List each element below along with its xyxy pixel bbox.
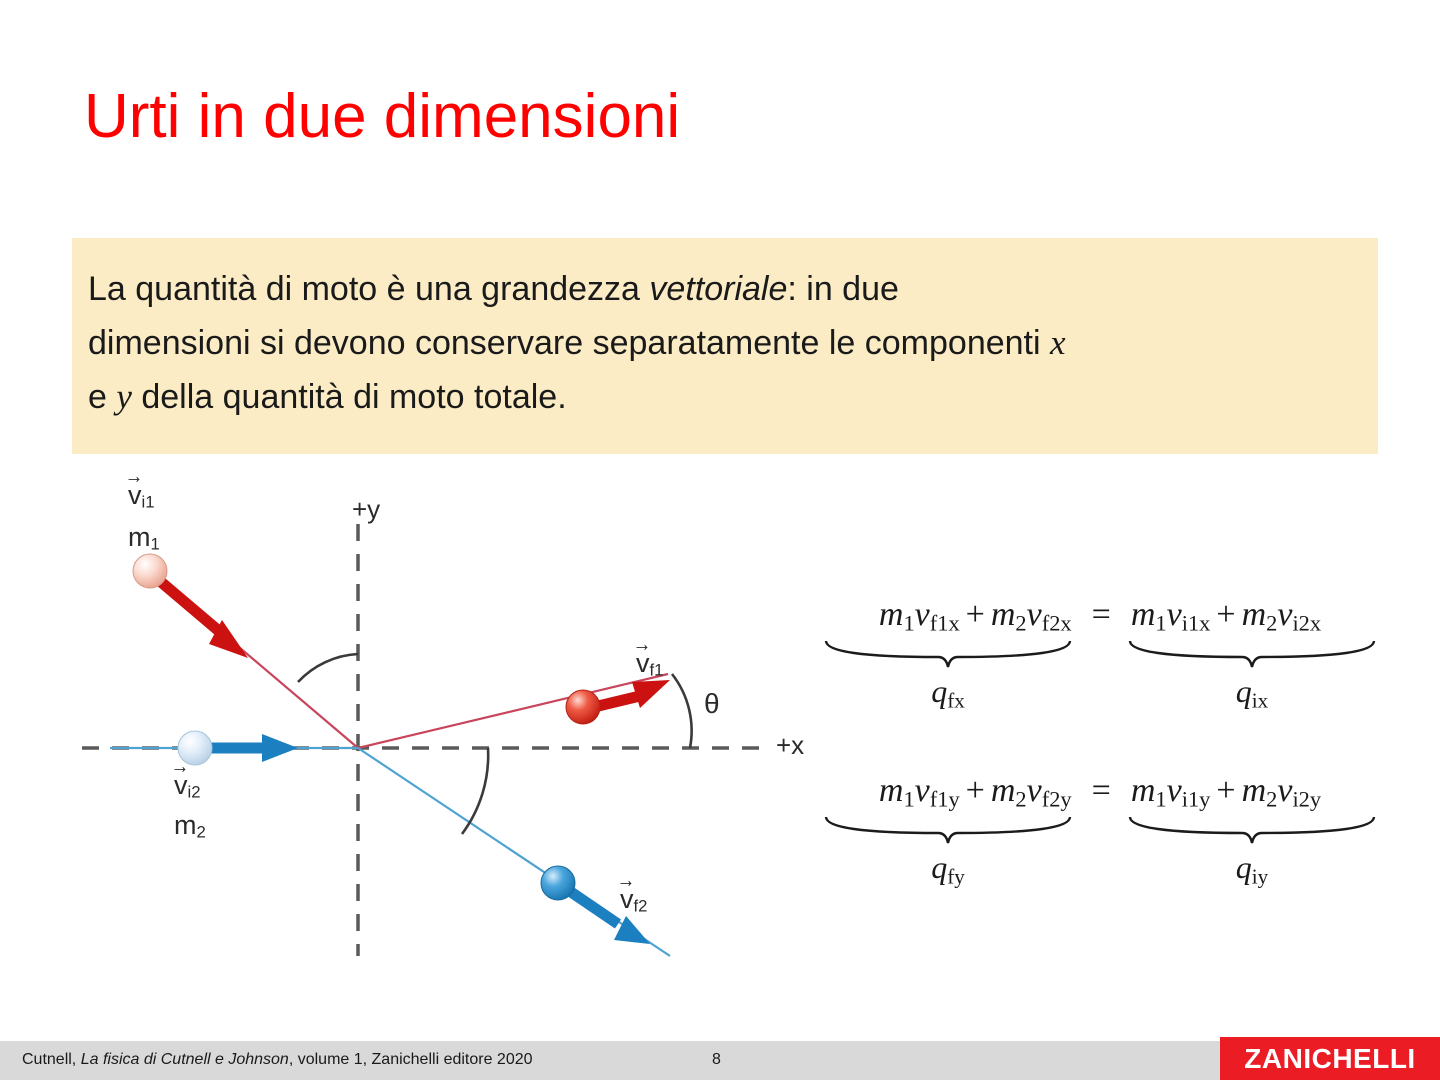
eq-y-right-v1: v (1167, 772, 1182, 809)
equation-y-row: m1vf1y+m2vf2y = m1vi1y+m2vi2y (820, 772, 1380, 813)
equation-x-left-side: m1vf1x+m2vf2x (879, 596, 1072, 637)
vector-vi1-shaft (154, 576, 220, 632)
eq-y-qiy-symbol: q (1236, 849, 1252, 885)
eq-x-left-m1-sub: 1 (903, 611, 914, 636)
eq-x-right-m1: m (1131, 596, 1156, 633)
eq-y-qfy-symbol: q (931, 849, 947, 885)
label-vi1: vi1 (128, 480, 155, 513)
eq-y-left-v1-sub: f1y (930, 787, 960, 812)
label-m1: m1 (128, 522, 160, 555)
eq-x-right-v2-sub: i2x (1292, 611, 1321, 636)
equation-y-right-side: m1vi1y+m2vi2y (1131, 772, 1321, 813)
eq-x-left-m2-sub: 2 (1015, 611, 1026, 636)
eq-x-qfx-symbol: q (931, 673, 947, 709)
eq-y-left-m2-sub: 2 (1015, 787, 1026, 812)
callout-line3-part1: e (88, 378, 116, 416)
eq-y-left-brace-label: qfy (908, 849, 988, 889)
label-m2-sub: 2 (197, 823, 206, 842)
eq-x-right-v2: v (1277, 596, 1292, 633)
conservation-equations: m1vf1x+m2vf2x = m1vi1x+m2vi2x qfx qix m1… (820, 596, 1380, 926)
eq-x-qix-symbol: q (1236, 673, 1252, 709)
eq-x-equals: = (1072, 596, 1131, 634)
eq-x-left-v2-sub: f2x (1042, 611, 1072, 636)
eq-y-right-v2: v (1277, 772, 1292, 809)
trajectory-line-vf1 (358, 674, 668, 748)
eq-x-left-operator: + (960, 596, 991, 633)
equation-x-braces (820, 637, 1380, 671)
brace-x-left (826, 641, 1070, 667)
collision-diagram: vi1 m1 vi2 m2 vf1 vf2 +y +x θ (70, 466, 830, 986)
angle-label-theta: θ (704, 688, 720, 720)
label-vi2: vi2 (174, 770, 201, 803)
ball-m1 (133, 554, 167, 588)
eq-x-right-brace-label: qix (1212, 673, 1292, 713)
callout-line3-part2: della quantità di moto totale. (132, 378, 567, 416)
equation-x-right-side: m1vi1x+m2vi2x (1131, 596, 1321, 637)
eq-x-left-m2: m (991, 596, 1016, 633)
vector-vf1-arrowhead (632, 680, 670, 708)
equation-x-components: m1vf1x+m2vf2x = m1vi1x+m2vi2x qfx qix (820, 596, 1380, 715)
angle-arc-upper (298, 654, 358, 682)
label-m2: m2 (174, 810, 206, 843)
eq-y-right-v2-sub: i2y (1292, 787, 1321, 812)
label-vi2-symbol: v (174, 770, 188, 801)
eq-y-left-m1: m (879, 772, 904, 809)
eq-x-left-v1-sub: f1x (930, 611, 960, 636)
label-vf2-sub: f2 (634, 897, 648, 916)
equation-y-components: m1vf1y+m2vf2y = m1vi1y+m2vi2y qfy qiy (820, 772, 1380, 891)
eq-x-left-v1: v (915, 596, 930, 633)
eq-x-right-m2-sub: 2 (1266, 611, 1277, 636)
eq-y-right-m2-sub: 2 (1266, 787, 1277, 812)
callout-emphasis-vettoriale: vettoriale (649, 270, 787, 308)
vector-vi2-arrowhead (262, 734, 298, 762)
equation-y-left-side: m1vf1y+m2vf2y (879, 772, 1072, 813)
callout-box: La quantità di moto è una grandezza vett… (72, 238, 1378, 454)
label-m1-symbol: m (128, 522, 151, 552)
eq-y-left-operator: + (960, 772, 991, 809)
eq-y-right-m1: m (1131, 772, 1156, 809)
label-vi1-sub: i1 (142, 493, 155, 512)
label-vf2-symbol: v (620, 884, 634, 915)
footer-credit-part2: , volume 1, Zanichelli editore 2020 (289, 1051, 533, 1068)
eq-y-left-m1-sub: 1 (903, 787, 914, 812)
brand-logo: ZANICHELLI (1220, 1037, 1440, 1080)
eq-x-qix-sub: ix (1252, 688, 1268, 712)
label-vf1-sub: f1 (650, 661, 664, 680)
eq-y-left-v1: v (915, 772, 930, 809)
eq-y-right-operator: + (1210, 772, 1241, 809)
eq-x-right-operator: + (1210, 596, 1241, 633)
label-vi2-sub: i2 (188, 783, 201, 802)
eq-y-right-v1-sub: i1y (1182, 787, 1211, 812)
label-vf1: vf1 (636, 648, 663, 681)
footer-credit-part1: Cutnell, (22, 1051, 81, 1068)
eq-x-right-m2: m (1242, 596, 1267, 633)
eq-x-qfx-sub: fx (947, 688, 965, 712)
brace-x-right (1130, 641, 1374, 667)
eq-y-right-m1-sub: 1 (1155, 787, 1166, 812)
label-vf1-symbol: v (636, 648, 650, 679)
eq-y-right-brace-label: qiy (1212, 849, 1292, 889)
eq-y-qfy-sub: fy (947, 864, 965, 888)
eq-y-left-m2: m (991, 772, 1016, 809)
eq-x-right-v1: v (1167, 596, 1182, 633)
callout-text: La quantità di moto è una grandezza vett… (88, 262, 1358, 424)
eq-x-left-brace-label: qfx (908, 673, 988, 713)
footer-credit-title: La fisica di Cutnell e Johnson (81, 1051, 289, 1068)
label-m2-symbol: m (174, 810, 197, 840)
axis-label-x: +x (776, 730, 804, 761)
brace-y-right (1130, 817, 1374, 843)
ball-m2-final (541, 866, 575, 900)
footer-credit: Cutnell, La fisica di Cutnell e Johnson,… (22, 1051, 533, 1069)
label-vi1-symbol: v (128, 480, 142, 511)
eq-x-right-m1-sub: 1 (1155, 611, 1166, 636)
eq-y-right-m2: m (1242, 772, 1267, 809)
label-m1-sub: 1 (151, 535, 160, 554)
callout-variable-x: x (1050, 323, 1066, 362)
brand-logo-text: ZANICHELLI (1244, 1043, 1415, 1075)
callout-variable-y: y (116, 377, 132, 416)
eq-x-left-m1: m (879, 596, 904, 633)
page-number: 8 (712, 1051, 721, 1069)
eq-y-equals: = (1072, 772, 1131, 810)
eq-x-left-v2: v (1027, 596, 1042, 633)
eq-y-left-v2: v (1027, 772, 1042, 809)
page-title: Urti in due dimensioni (84, 86, 680, 148)
callout-line1-part1: La quantità di moto è una grandezza (88, 270, 649, 308)
callout-line2-part1: dimensioni si devono conservare separata… (88, 324, 1050, 362)
brace-y-left (826, 817, 1070, 843)
angle-arc-theta (672, 674, 692, 748)
callout-line1-part2: : in due (787, 270, 899, 308)
eq-y-left-v2-sub: f2y (1042, 787, 1072, 812)
eq-y-qiy-sub: iy (1252, 864, 1268, 888)
ball-m1-final (566, 690, 600, 724)
vector-vf2-shaft (568, 890, 618, 924)
eq-x-right-v1-sub: i1x (1182, 611, 1211, 636)
equation-y-braces (820, 813, 1380, 847)
collision-diagram-svg (70, 466, 830, 986)
equation-x-row: m1vf1x+m2vf2x = m1vi1x+m2vi2x (820, 596, 1380, 637)
label-vf2: vf2 (620, 884, 647, 917)
axis-label-y: +y (352, 494, 380, 525)
